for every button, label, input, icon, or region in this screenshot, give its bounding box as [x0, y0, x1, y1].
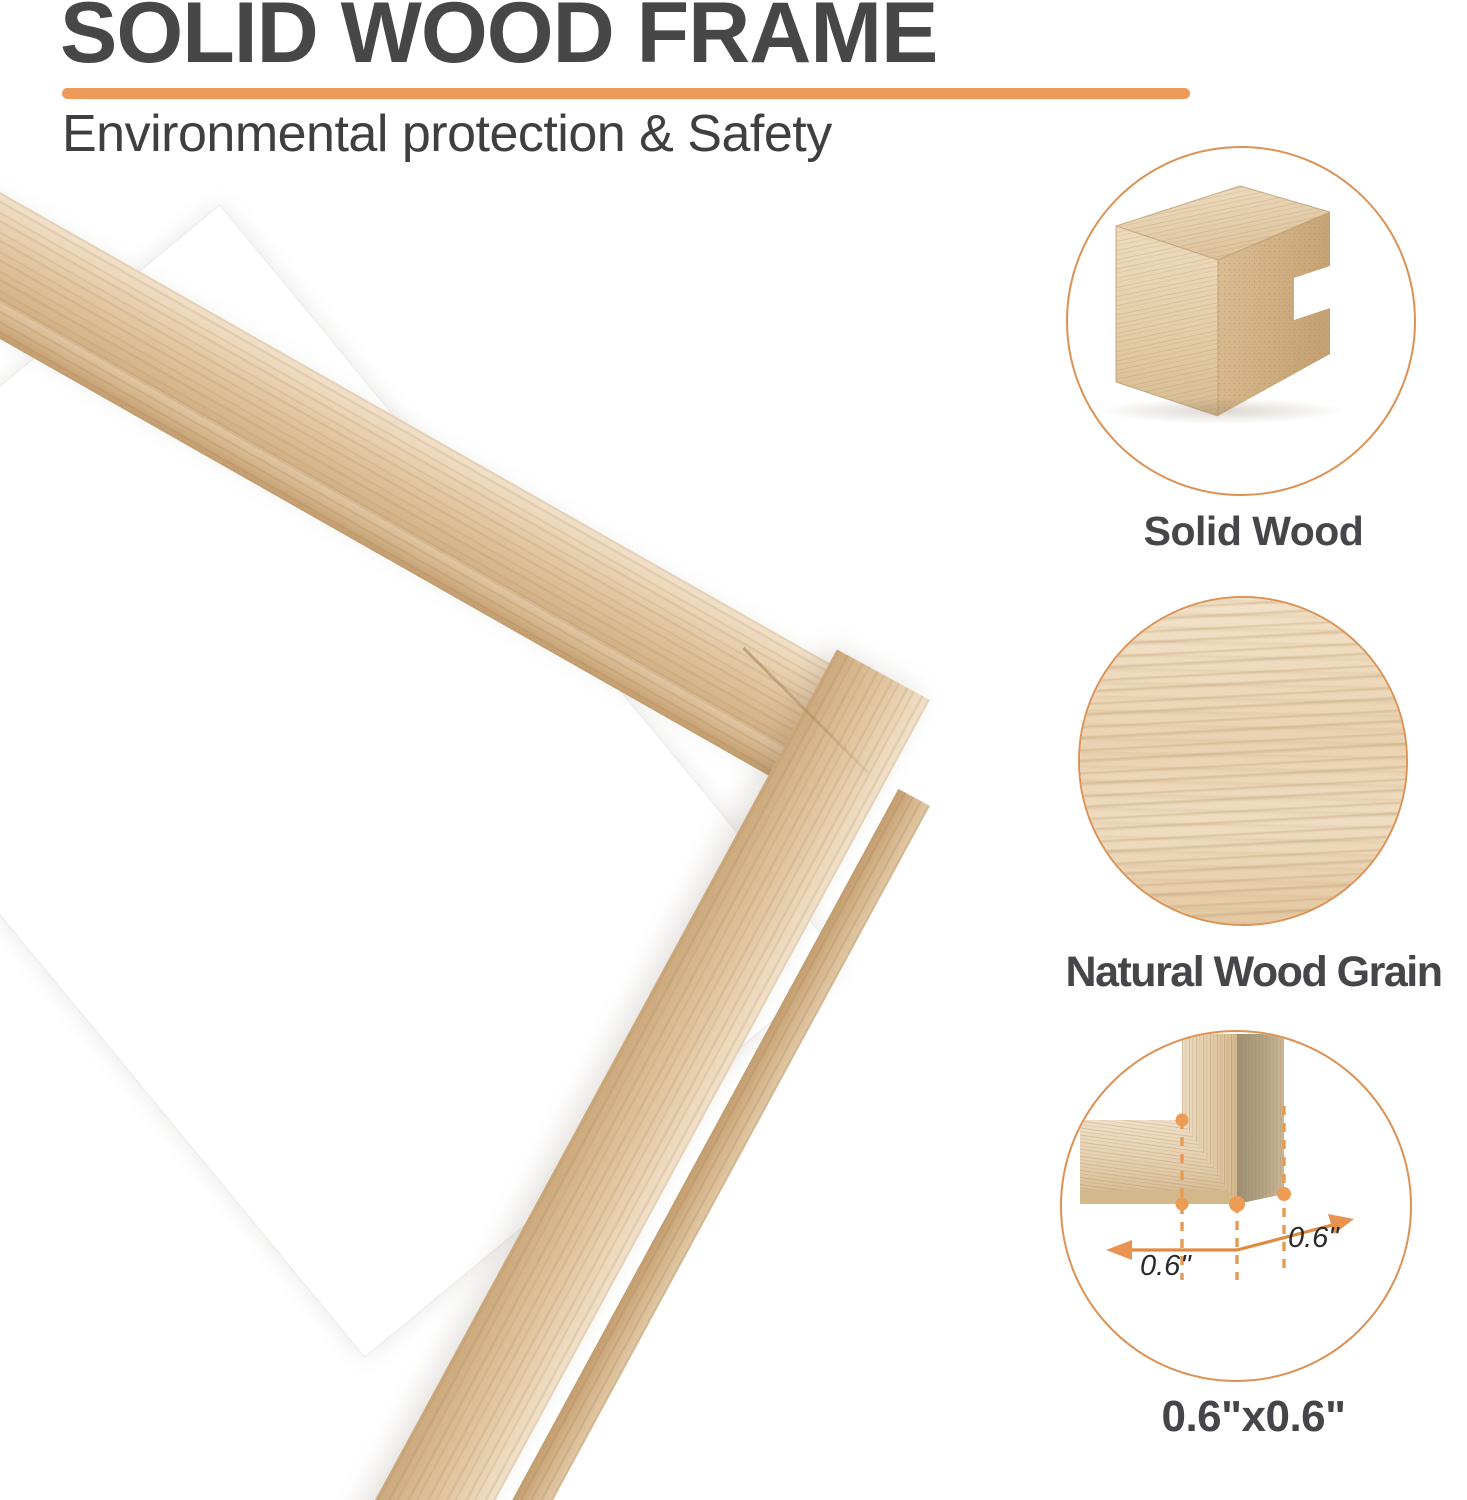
dimension-label-right: 0.6" [1288, 1222, 1339, 1255]
product-photo: es [0, 0, 1040, 1500]
wood-moulding-profile-icon [1068, 148, 1416, 496]
page-subtitle: Environmental protection & Safety [62, 104, 832, 164]
dimension-label-left: 0.6" [1140, 1250, 1191, 1283]
callout-natural-wood-grain-caption: Natural Wood Grain [1040, 948, 1467, 997]
title-divider [62, 88, 1190, 99]
callout-frame-dimensions-caption: 0.6"x0.6" [1040, 1392, 1467, 1442]
frame-corner-dimensions-icon [1062, 1032, 1412, 1382]
frame-dimensions-circle: 0.6" 0.6" [1060, 1030, 1412, 1382]
wood-grain-swatch-icon [1078, 596, 1408, 926]
page-title: SOLID WOOD FRAME [60, 0, 937, 76]
solid-wood-circle [1066, 146, 1416, 496]
feature-callouts: Solid Wood Natural Wood Grain [1040, 0, 1467, 1500]
natural-wood-grain-circle [1078, 596, 1408, 926]
wood-block-svg [1068, 148, 1416, 496]
callout-solid-wood-caption: Solid Wood [1040, 508, 1467, 555]
block-shadow [1096, 398, 1346, 424]
